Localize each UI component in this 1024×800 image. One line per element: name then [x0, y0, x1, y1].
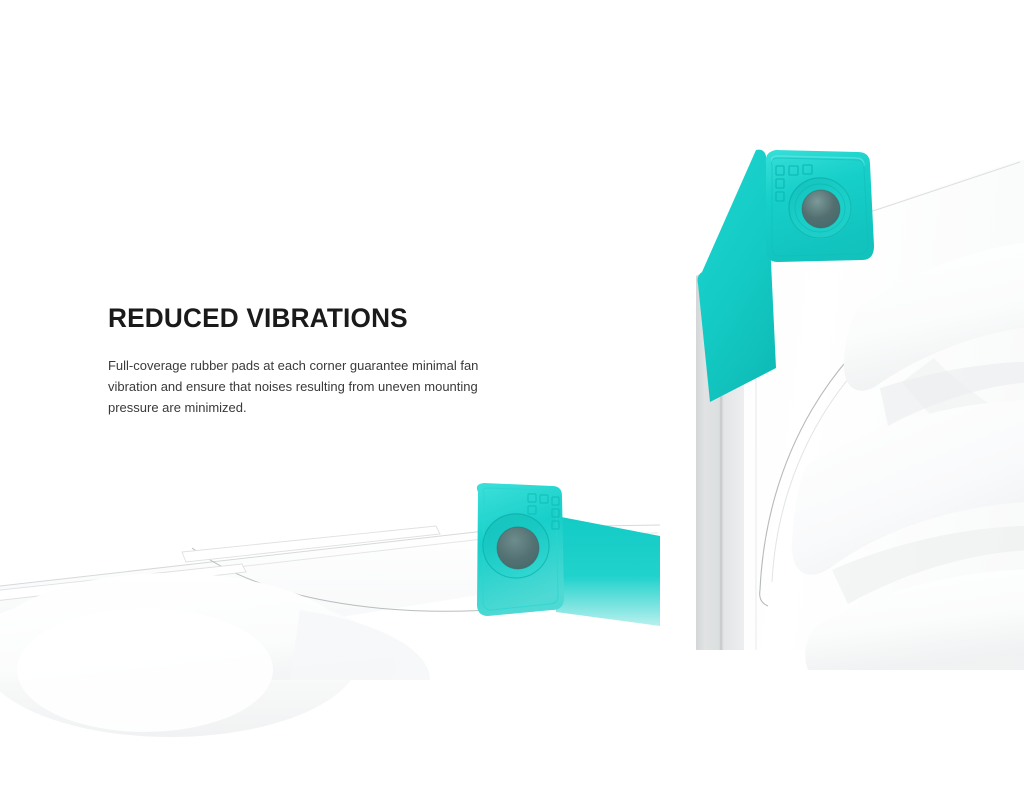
fan-blade [0, 588, 396, 680]
pad-front-face [766, 150, 874, 262]
mounting-hole-recess [482, 513, 550, 579]
mounting-hole [497, 527, 539, 569]
frame-slot-mid [182, 526, 440, 562]
fan-blade-spoke [902, 358, 1020, 448]
fan-blade-shadow [880, 362, 1024, 426]
fan-blade [792, 400, 1024, 575]
page-title: REDUCED VIBRATIONS [108, 303, 515, 333]
mounting-hole [802, 190, 840, 228]
case-fan-lower-left [0, 470, 680, 670]
frame-top-edge [0, 525, 660, 588]
frame-bore-inner-line [772, 264, 1024, 582]
frame-bore-outline-tail [760, 590, 768, 606]
fan-blade [805, 569, 1024, 670]
mounting-hole-ring [483, 514, 549, 578]
frame-bore-outline [760, 246, 1024, 590]
fan-blade-secondary [290, 610, 430, 680]
pad-grid-texture [528, 494, 559, 529]
fan-blade-shadow [832, 526, 1024, 604]
frame-bore-outline [192, 548, 520, 611]
fan-blades [792, 240, 1024, 670]
mounting-hole-edge [497, 527, 539, 569]
mounting-hole-ring [789, 178, 851, 238]
pad-side-flap [556, 516, 660, 626]
feature-text-block: REDUCED VIBRATIONS Full-coverage rubber … [108, 303, 528, 418]
fan-hub-highlight [17, 608, 273, 732]
pad-side-flap [698, 150, 777, 402]
frame-top-hairline [744, 162, 1020, 254]
mounting-hole-edge [802, 190, 840, 228]
fan-frame-face [744, 160, 1024, 650]
fan-rotor-mass [0, 573, 360, 737]
pad-front-face [477, 483, 564, 616]
rubber-corner-pad [698, 150, 875, 402]
product-feature-slide: REDUCED VIBRATIONS Full-coverage rubber … [0, 0, 1024, 800]
feature-description: Full-coverage rubber pads at each corner… [108, 355, 514, 418]
pad-grid-texture [776, 165, 812, 201]
pad-bevel-outline [772, 158, 868, 256]
case-fan-top-right [680, 130, 1024, 660]
fan-frame-face [0, 526, 660, 630]
frame-slot-left [0, 564, 246, 602]
pad-bevel-outline [483, 488, 558, 610]
pad-top-highlight [772, 156, 864, 166]
fan-blade [844, 240, 1024, 391]
mounting-hole-ring-inner [795, 184, 845, 232]
mounting-hole-recess [788, 177, 852, 239]
rubber-corner-pad [477, 483, 660, 626]
fan-frame-side-edge [696, 252, 744, 650]
frame-bevel-line [0, 533, 658, 594]
